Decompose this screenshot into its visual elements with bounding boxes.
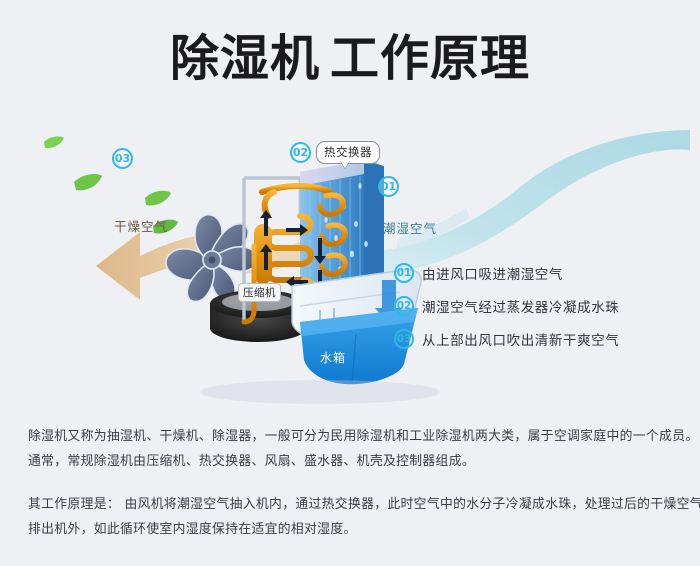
legend-text-3: 从上部出风口吹出清新干爽空气 (422, 329, 619, 349)
paragraph-1: 除湿机又称为抽湿机、干燥机、除湿器，一般可分为民用除湿机和工业除湿机两大类，属于… (28, 424, 676, 474)
badge-01: 01 (394, 263, 414, 283)
paragraph-2: 其工作原理是： 由风机将潮湿空气抽入机内，通过热交换器，此时空气中的水分子冷凝成… (28, 492, 676, 542)
legend-list: 01 由进风口吸进潮湿空气 02 潮湿空气经过蒸发器冷凝成水珠 03 从上部出风… (394, 256, 684, 355)
list-item: 02 潮湿空气经过蒸发器冷凝成水珠 (394, 289, 684, 322)
dry-air-label: 干燥空气 (114, 216, 168, 235)
description-text: 除湿机又称为抽湿机、干燥机、除湿器，一般可分为民用除湿机和工业除湿机两大类，属于… (28, 424, 676, 560)
compressor-label: 压缩机 (238, 283, 281, 302)
badge-02: 02 (394, 296, 414, 316)
badge-01-diagram: 01 (378, 176, 399, 197)
title-part-1: 除湿机 (170, 30, 320, 87)
paragraph-2-line-1: 其工作原理是： 由风机将潮湿空气抽入机内，通过热交换器，此时空气中的水分子冷凝成… (28, 492, 676, 517)
badge-03-diagram: 03 (112, 148, 133, 169)
title-part-2: 工作原理 (330, 30, 530, 87)
page-title: 除湿机工作原理 (0, 34, 700, 83)
legend-text-1: 由进风口吸进潮湿空气 (422, 263, 563, 283)
paragraph-1-line-2: 通常，常规除湿机由压缩机、热交换器、风扇、盛水器、机壳及控制器组成。 (28, 449, 676, 474)
paragraph-1-line-1: 除湿机又称为抽湿机、干燥机、除湿器，一般可分为民用除湿机和工业除湿机两大类，属于… (28, 424, 676, 449)
list-item: 03 从上部出风口吹出清新干爽空气 (394, 322, 684, 355)
badge-03: 03 (394, 329, 414, 349)
badge-02-diagram: 02 (290, 142, 311, 163)
water-tank-label: 水箱 (320, 349, 346, 366)
callout-pointer-icon (340, 160, 350, 168)
paragraph-2-line-2: 排出机外，如此循环使室内湿度保持在适宜的相对湿度。 (28, 517, 676, 542)
legend-text-2: 潮湿空气经过蒸发器冷凝成水珠 (422, 296, 619, 316)
list-item: 01 由进风口吸进潮湿空气 (394, 256, 684, 289)
humid-air-label: 潮湿空气 (383, 218, 437, 237)
